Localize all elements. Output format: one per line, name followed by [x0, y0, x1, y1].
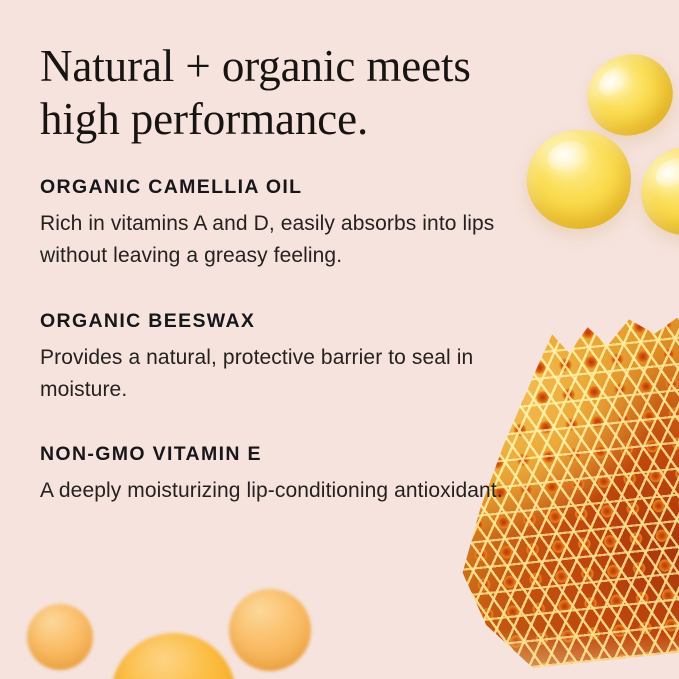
feature-title-camellia-oil: ORGANIC CAMELLIA OIL	[40, 176, 510, 199]
product-benefits-poster: Natural + organic meets high performance…	[0, 0, 679, 679]
feature-list: ORGANIC CAMELLIA OIL Rich in vitamins A …	[40, 176, 510, 508]
feature-item-beeswax: ORGANIC BEESWAX Provides a natural, prot…	[40, 310, 510, 407]
feature-title-beeswax: ORGANIC BEESWAX	[40, 310, 510, 333]
feature-item-camellia-oil: ORGANIC CAMELLIA OIL Rich in vitamins A …	[40, 176, 510, 273]
feature-title-vitamin-e: NON-GMO VITAMIN E	[40, 443, 510, 466]
feature-description-beeswax: Provides a natural, protective barrier t…	[40, 342, 510, 407]
page-headline: Natural + organic meets high performance…	[40, 40, 510, 145]
feature-item-vitamin-e: NON-GMO VITAMIN E A deeply moisturizing …	[40, 443, 510, 507]
feature-description-vitamin-e: A deeply moisturizing lip-conditioning a…	[40, 475, 510, 507]
feature-description-camellia-oil: Rich in vitamins A and D, easily absorbs…	[40, 208, 510, 273]
content-layer: Natural + organic meets high performance…	[0, 0, 679, 679]
